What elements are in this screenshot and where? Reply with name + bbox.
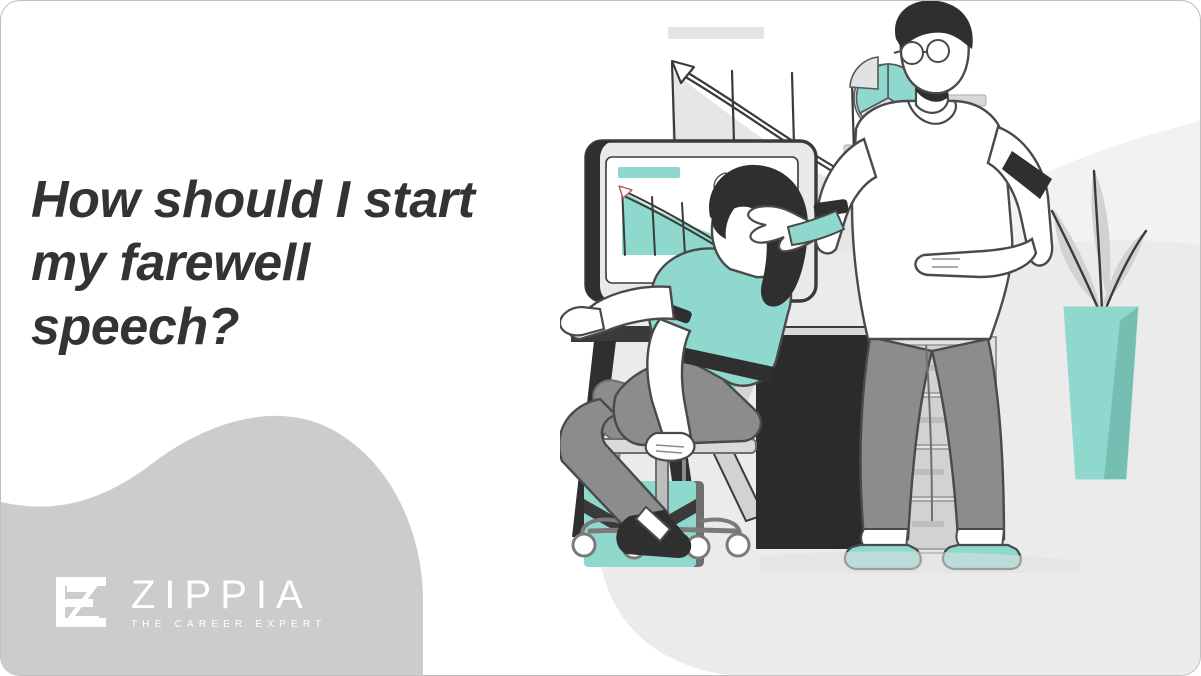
logo-wordmark: ZIPPIA [131, 575, 326, 615]
logo-text-block: ZIPPIA THE CAREER EXPERT [131, 575, 326, 630]
headline-line-2: my farewell [31, 232, 551, 295]
logo-tagline: THE CAREER EXPERT [131, 620, 326, 630]
zippia-z-mark-icon [53, 574, 109, 630]
office-teamwork-analytics-illustration [560, 1, 1200, 676]
background-blob [0, 385, 423, 676]
headline-line-3: speech? [31, 296, 551, 359]
brand-logo[interactable]: ZIPPIA THE CAREER EXPERT [53, 574, 326, 630]
headline-line-1: How should I start [31, 169, 551, 232]
page-title: How should I start my farewell speech? [31, 169, 551, 359]
promo-card: How should I start my farewell speech? Z… [0, 0, 1201, 676]
